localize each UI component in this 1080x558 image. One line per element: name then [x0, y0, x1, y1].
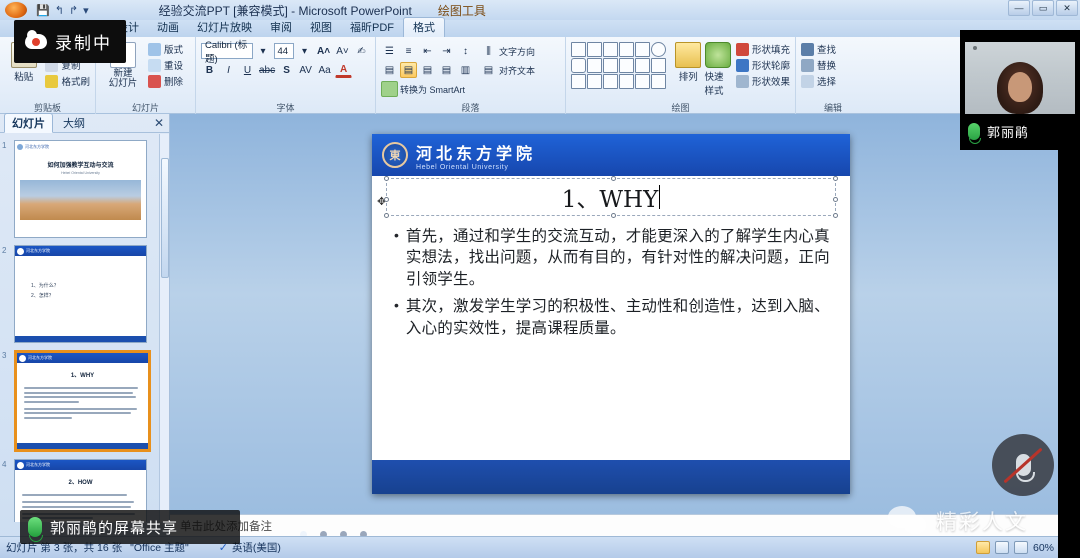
undo-icon[interactable]: ↰	[55, 4, 64, 17]
strikethrough-button[interactable]: abc	[258, 62, 276, 78]
italic-button[interactable]: I	[220, 62, 237, 78]
justify-icon[interactable]: ▤	[438, 62, 455, 78]
reset-icon	[148, 59, 161, 72]
text-cursor	[659, 185, 660, 209]
camera-video	[965, 42, 1075, 114]
align-left-icon[interactable]: ▤	[381, 62, 398, 78]
ribbon-group-drawing: 排列 快速样式 形状填充 形状轮廓	[566, 37, 796, 114]
layout-button[interactable]: 版式	[148, 42, 183, 56]
quick-styles-label: 快速样式	[704, 69, 730, 97]
ribbon-group-font: Calibri (标题) ▾ 44 ▾ A˄ A˅ ✍ B I U abc S …	[196, 37, 376, 114]
reset-button[interactable]: 重设	[148, 58, 183, 72]
paste-label: 粘贴	[14, 69, 33, 83]
rounded-rect-shape-icon[interactable]	[571, 58, 586, 73]
meeting-right-strip	[1058, 150, 1080, 558]
mic-on-icon	[28, 517, 42, 537]
format-painter-button[interactable]: 格式刷	[45, 74, 90, 88]
resize-handle-sw[interactable]	[384, 213, 389, 218]
arrange-icon	[675, 42, 701, 68]
thumb1-title: 如何加强教学互动与交流	[15, 160, 146, 169]
thumb3-title: 1、WHY	[17, 370, 148, 379]
slide-edit-area[interactable]: 東 河北东方学院 Hebel Oriental University ✥ 1、W…	[170, 114, 1080, 514]
bold-button[interactable]: B	[201, 62, 218, 78]
resize-handle-nw[interactable]	[384, 176, 389, 181]
ribbon-tab-strip: 设计 动画 幻灯片放映 审阅 视图 福昕PDF 格式	[0, 20, 1080, 37]
camera-panel[interactable]: 郭丽鹃	[960, 30, 1080, 150]
tab-review[interactable]: 审阅	[261, 18, 301, 37]
arc-shape-icon[interactable]	[619, 74, 634, 89]
arrow-shape-icon[interactable]	[619, 42, 634, 57]
camera-indicator-icon	[973, 46, 977, 50]
group-label-editing: 编辑	[796, 101, 870, 114]
shapes-gallery[interactable]	[571, 39, 666, 89]
select-button[interactable]: 选择	[801, 74, 836, 88]
shape-outline-icon	[736, 59, 749, 72]
layout-icon	[148, 43, 161, 56]
layout-label: 版式	[164, 42, 183, 56]
pane-tab-strip: 幻灯片 大纲 ✕	[0, 114, 169, 133]
arrange-button[interactable]: 排列	[675, 39, 701, 83]
find-icon	[801, 43, 814, 56]
context-tab-label: 绘图工具	[438, 2, 486, 19]
tab-format[interactable]: 格式	[403, 17, 445, 37]
thumbnail-number: 2	[2, 246, 6, 255]
zoom-level-label: 60%	[1033, 542, 1054, 554]
freeform-shape-icon[interactable]	[587, 74, 602, 89]
university-name-en: Hebel Oriental University	[416, 164, 536, 171]
select-icon	[801, 75, 814, 88]
thumbnail-number: 3	[2, 351, 6, 360]
find-button[interactable]: 查找	[801, 42, 836, 56]
thumbnail-slide-2[interactable]: 河北东方学院 1、为什么？ 2、怎样？	[14, 245, 147, 343]
arrange-label: 排列	[679, 69, 698, 83]
shadow-button[interactable]: S	[278, 62, 295, 78]
change-case-button[interactable]: Aa	[316, 62, 333, 78]
text-direction-label: 文字方向	[499, 45, 535, 58]
thumb4-title: 2、HOW	[15, 477, 146, 486]
font-name-dropdown-icon[interactable]: ▾	[255, 43, 272, 59]
increase-indent-icon[interactable]: ⇥	[438, 43, 455, 59]
replace-icon	[801, 59, 814, 72]
text-direction-button[interactable]: ⫼	[480, 43, 497, 59]
shape-fill-icon	[736, 43, 749, 56]
camera-participant-name: 郭丽鹃	[987, 122, 1029, 141]
shape-effects-button[interactable]: 形状效果	[736, 74, 790, 88]
decrease-indent-icon[interactable]: ⇤	[419, 43, 436, 59]
smartart-icon[interactable]	[381, 81, 398, 97]
clear-formatting-icon[interactable]: ✍	[353, 43, 370, 59]
record-dot-icon	[25, 34, 47, 49]
slide-body-textbox[interactable]: • 首先，通过和学生的交流互动，才能更深入的了解学生内心真实想法，找出问题，从而…	[394, 226, 834, 345]
down-arrow-shape-icon[interactable]	[651, 58, 666, 73]
slide-bullet-text-1: 首先，通过和学生的交流互动，才能更深入的了解学生内心真实想法，找出问题，从而有目…	[406, 226, 834, 290]
paintbrush-icon	[45, 75, 58, 88]
rectangle-shape-icon[interactable]	[635, 42, 650, 57]
office-orb-button[interactable]	[4, 1, 28, 19]
new-slide-label: 新建 幻灯片	[109, 69, 138, 89]
group-label-drawing: 绘图	[566, 101, 795, 114]
watermark: 精彩人文	[888, 506, 1028, 536]
close-pane-icon[interactable]: ✕	[154, 116, 164, 130]
tab-foxit-pdf[interactable]: 福昕PDF	[341, 18, 403, 37]
group-label-font: 字体	[196, 101, 375, 114]
save-icon[interactable]: 💾	[36, 4, 50, 17]
mic-on-icon	[968, 123, 980, 140]
reading-view-icon[interactable]	[1014, 541, 1028, 554]
maximize-button[interactable]: ▭	[1032, 0, 1054, 16]
thumbnail-list[interactable]: 1 河北东方学院 如何加强教学互动与交流 Hebei Oriental Univ…	[0, 134, 159, 522]
thumbnail-item[interactable]: 2 河北东方学院 1、为什么？ 2、怎样？	[14, 245, 155, 343]
wechat-logo-icon	[888, 506, 930, 536]
columns-icon[interactable]: ▤	[480, 62, 497, 78]
delete-label: 删除	[164, 74, 183, 88]
title-bar: 💾 ↰ ↱ ▾ 经验交流PPT [兼容模式] - Microsoft Power…	[0, 0, 1080, 20]
tab-slideshow[interactable]: 幻灯片放映	[188, 18, 261, 37]
thumb2-bullet-1: 1、为什么？	[31, 282, 146, 292]
current-slide[interactable]: 東 河北东方学院 Hebel Oriental University ✥ 1、W…	[372, 134, 850, 494]
quick-access-toolbar: 💾 ↰ ↱ ▾	[36, 4, 89, 17]
underline-button[interactable]: U	[239, 62, 256, 78]
resize-handle-n[interactable]	[611, 176, 616, 181]
delete-slide-button[interactable]: 删除	[148, 74, 183, 88]
slide-bullet-text-2: 其次，激发学生学习的积极性、主动性和创造性，达到入脑、入心的实效性，提高课程质量…	[406, 296, 834, 339]
curve-shape-icon[interactable]	[603, 74, 618, 89]
thumb2-bullet-2: 2、怎样？	[31, 292, 146, 302]
convert-smartart-label: 转换为 SmartArt	[400, 83, 465, 96]
numbering-icon[interactable]: ≡	[400, 43, 417, 59]
shape-outline-button[interactable]: 形状轮廓	[736, 58, 790, 72]
sorter-view-icon[interactable]	[995, 541, 1009, 554]
document-title: 经验交流PPT [兼容模式] - Microsoft PowerPoint	[159, 2, 412, 19]
font-name-input[interactable]: Calibri (标题)	[201, 43, 253, 59]
ribbon-group-editing: 查找 替换 选择 编辑	[796, 37, 870, 114]
font-size-input[interactable]: 44	[274, 43, 295, 59]
tab-animations[interactable]: 动画	[148, 18, 188, 37]
slide-bullet: • 其次，激发学生学习的积极性、主动性和创造性，达到入脑、入心的实效性，提高课程…	[394, 296, 834, 339]
thumbnail-item[interactable]: 1 河北东方学院 如何加强教学互动与交流 Hebei Oriental Univ…	[14, 140, 155, 238]
oval-shape-icon[interactable]	[651, 42, 666, 57]
ribbon-group-paragraph: ☰ ≡ ⇤ ⇥ ↕ ⫼ 文字方向 ▤ ▤ ▤ ▤ ▥ ▤ 对齐文本	[376, 37, 566, 114]
vertical-textbox-shape-icon[interactable]	[587, 42, 602, 57]
format-painter-label: 格式刷	[61, 74, 90, 88]
replace-label: 替换	[817, 58, 836, 72]
tab-view[interactable]: 视图	[301, 18, 341, 37]
find-label: 查找	[817, 42, 836, 56]
font-color-button[interactable]: A	[335, 62, 352, 78]
elbow-connector-shape-icon[interactable]	[603, 58, 618, 73]
customize-qat-icon[interactable]: ▾	[83, 4, 89, 17]
align-center-icon[interactable]: ▤	[400, 62, 417, 78]
right-arrow-shape-icon[interactable]	[635, 58, 650, 73]
thumb1-header: 河北东方学院	[25, 144, 49, 150]
watermark-text: 精彩人文	[936, 506, 1028, 536]
slide-title-textbox[interactable]: ✥ 1、WHY	[386, 178, 836, 216]
shape-outline-label: 形状轮廓	[752, 58, 790, 72]
delete-icon	[148, 75, 161, 88]
shape-fill-label: 形状填充	[752, 42, 790, 56]
normal-view-icon[interactable]	[976, 541, 990, 554]
left-brace-shape-icon[interactable]	[635, 74, 650, 89]
line-shape-icon[interactable]	[603, 42, 618, 57]
quick-styles-icon	[705, 42, 731, 68]
grow-font-icon[interactable]: A˄	[315, 43, 332, 59]
triangle-shape-icon[interactable]	[587, 58, 602, 73]
resize-handle-ne[interactable]	[833, 176, 838, 181]
recording-badge: 录制中	[14, 20, 126, 63]
bullets-icon[interactable]: ☰	[381, 43, 398, 59]
font-size-dropdown-icon[interactable]: ▾	[296, 43, 313, 59]
bullet-marker: •	[394, 226, 399, 290]
ribbon: 粘贴 剪切 复制 格式刷 剪贴板	[0, 37, 1080, 114]
minimize-button[interactable]: —	[1008, 0, 1030, 16]
group-label-paragraph: 段落	[376, 101, 565, 114]
line-spacing-icon[interactable]: ↕	[457, 43, 474, 59]
resize-handle-e[interactable]	[833, 197, 838, 202]
elbow-arrow-shape-icon[interactable]	[619, 58, 634, 73]
distribute-icon[interactable]: ▥	[457, 62, 474, 78]
slide-header-banner: 東 河北东方学院 Hebel Oriental University	[372, 134, 850, 176]
camera-name-row: 郭丽鹃	[968, 122, 1029, 141]
mute-toggle-button[interactable]	[992, 434, 1054, 496]
screen-share-label: 郭丽鹃的屏幕共享	[50, 517, 178, 538]
right-brace-shape-icon[interactable]	[651, 74, 666, 89]
slide-title-text: 1、WHY	[562, 180, 659, 214]
slide-bullet: • 首先，通过和学生的交流互动，才能更深入的了解学生内心真实想法，找出问题，从而…	[394, 226, 834, 290]
pie-shape-icon[interactable]	[571, 74, 586, 89]
textbox-shape-icon[interactable]	[571, 42, 586, 57]
align-text-label: 对齐文本	[499, 64, 535, 77]
select-label: 选择	[817, 74, 836, 88]
recording-label: 录制中	[55, 29, 112, 54]
group-label-slides: 幻灯片	[96, 101, 195, 114]
thumbnail-scrollbar[interactable]	[159, 134, 169, 522]
window-buttons: — ▭ ✕	[1008, 0, 1078, 16]
reset-label: 重设	[164, 58, 183, 72]
slide-footer-banner	[372, 460, 850, 494]
resize-handle-s[interactable]	[611, 213, 616, 218]
logo-glyph: 東	[390, 147, 401, 163]
bullet-marker: •	[394, 296, 399, 339]
resize-handle-se[interactable]	[833, 213, 838, 218]
thumbnail-slide-1[interactable]: 河北东方学院 如何加强教学互动与交流 Hebei Oriental Univer…	[14, 140, 147, 238]
shape-effects-label: 形状效果	[752, 74, 790, 88]
thumb3-header: 河北东方学院	[28, 355, 52, 361]
shrink-font-icon[interactable]: A˅	[334, 43, 351, 59]
tab-outline[interactable]: 大纲	[56, 114, 92, 132]
resize-handle-w[interactable]	[384, 197, 389, 202]
thumbnail-number: 1	[2, 141, 6, 150]
shape-fill-button[interactable]: 形状填充	[736, 42, 790, 56]
tab-slides[interactable]: 幻灯片	[4, 113, 53, 133]
character-spacing-button[interactable]: AV	[297, 62, 314, 78]
powerpoint-window: 💾 ↰ ↱ ▾ 经验交流PPT [兼容模式] - Microsoft Power…	[0, 0, 1080, 558]
thumb4-header: 河北东方学院	[26, 462, 50, 468]
replace-button[interactable]: 替换	[801, 58, 836, 72]
thumbnail-number: 4	[2, 460, 6, 469]
thumbnail-slide-3[interactable]: 河北东方学院 1、WHY	[14, 350, 151, 452]
thumb1-photo	[20, 180, 141, 220]
thumbnail-scrollbar-thumb[interactable]	[161, 158, 169, 278]
slides-outline-pane: 幻灯片 大纲 ✕ 1 河北东方学院 如何加强教学互动与交流 Hebei Orie…	[0, 114, 170, 558]
screen-share-bar: 郭丽鹃的屏幕共享	[20, 510, 240, 544]
university-logo-icon: 東	[382, 142, 408, 168]
redo-icon[interactable]: ↱	[69, 4, 78, 17]
close-button[interactable]: ✕	[1056, 0, 1078, 16]
thumb2-header: 河北东方学院	[26, 248, 50, 254]
shape-effects-icon	[736, 75, 749, 88]
thumb1-subtitle: Hebei Oriental University	[15, 171, 146, 175]
align-right-icon[interactable]: ▤	[419, 62, 436, 78]
university-name-cn: 河北东方学院	[416, 140, 536, 164]
thumbnail-item[interactable]: 3 河北东方学院 1、WHY	[14, 350, 155, 452]
quick-styles-button[interactable]: 快速样式	[704, 39, 730, 97]
